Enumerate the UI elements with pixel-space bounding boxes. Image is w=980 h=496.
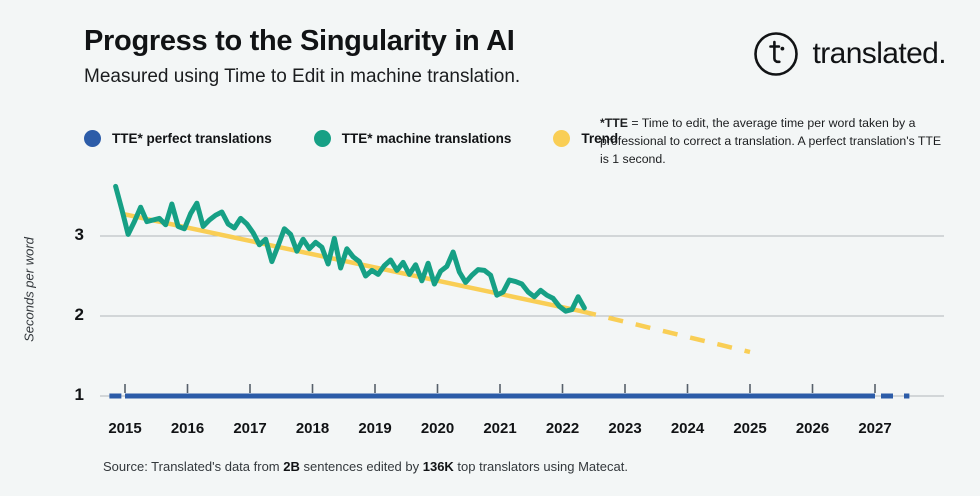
x-tick-label: 2016: [157, 420, 219, 437]
x-tick-label: 2024: [657, 420, 719, 437]
x-tick-label: 2020: [407, 420, 469, 437]
legend-swatch-blue-icon: [84, 130, 101, 147]
x-tick-label: 2026: [782, 420, 844, 437]
x-tick-label: 2018: [282, 420, 344, 437]
brand-logo: translated.: [753, 31, 946, 77]
legend-label-machine: TTE* machine translations: [342, 131, 512, 146]
x-tick-label: 2022: [532, 420, 594, 437]
legend-label-perfect: TTE* perfect translations: [112, 131, 272, 146]
legend-machine-translations: TTE* machine translations: [314, 130, 512, 147]
source-suffix: top translators using Matecat.: [454, 459, 628, 474]
source-sentences-count: 2B: [283, 459, 300, 474]
x-tick-label: 2019: [344, 420, 406, 437]
x-tick-label: 2023: [594, 420, 656, 437]
x-tick-label: 2021: [469, 420, 531, 437]
legend-swatch-green-icon: [314, 130, 331, 147]
y-tick-label: 3: [58, 225, 84, 245]
header: Progress to the Singularity in AI Measur…: [0, 0, 980, 105]
x-tick-label: 2027: [844, 420, 906, 437]
x-tick-label: 2025: [719, 420, 781, 437]
y-tick-label: 1: [58, 385, 84, 405]
source-mid: sentences edited by: [300, 459, 423, 474]
chart-svg: [0, 160, 980, 450]
x-tick-label: 2015: [94, 420, 156, 437]
x-tick-label: 2017: [219, 420, 281, 437]
y-tick-label: 2: [58, 305, 84, 325]
page-subtitle: Measured using Time to Edit in machine t…: [84, 66, 520, 88]
chart-legend: TTE* perfect translations TTE* machine t…: [84, 130, 660, 147]
source-prefix: Source: Translated's data from: [103, 459, 283, 474]
source-translators-count: 136K: [423, 459, 454, 474]
footnote-term: *TTE: [600, 116, 628, 130]
brand-name: translated.: [813, 37, 946, 71]
translated-circle-t-logo-icon: [753, 31, 799, 77]
chart-plot-area: Seconds per word 12320152016201720182019…: [0, 160, 980, 450]
legend-perfect-translations: TTE* perfect translations: [84, 130, 272, 147]
page-title: Progress to the Singularity in AI: [84, 25, 515, 58]
source-note: Source: Translated's data from 2B senten…: [103, 459, 628, 474]
footnote-body: = Time to edit, the average time per wor…: [600, 116, 941, 166]
legend-swatch-yellow-icon: [553, 130, 570, 147]
